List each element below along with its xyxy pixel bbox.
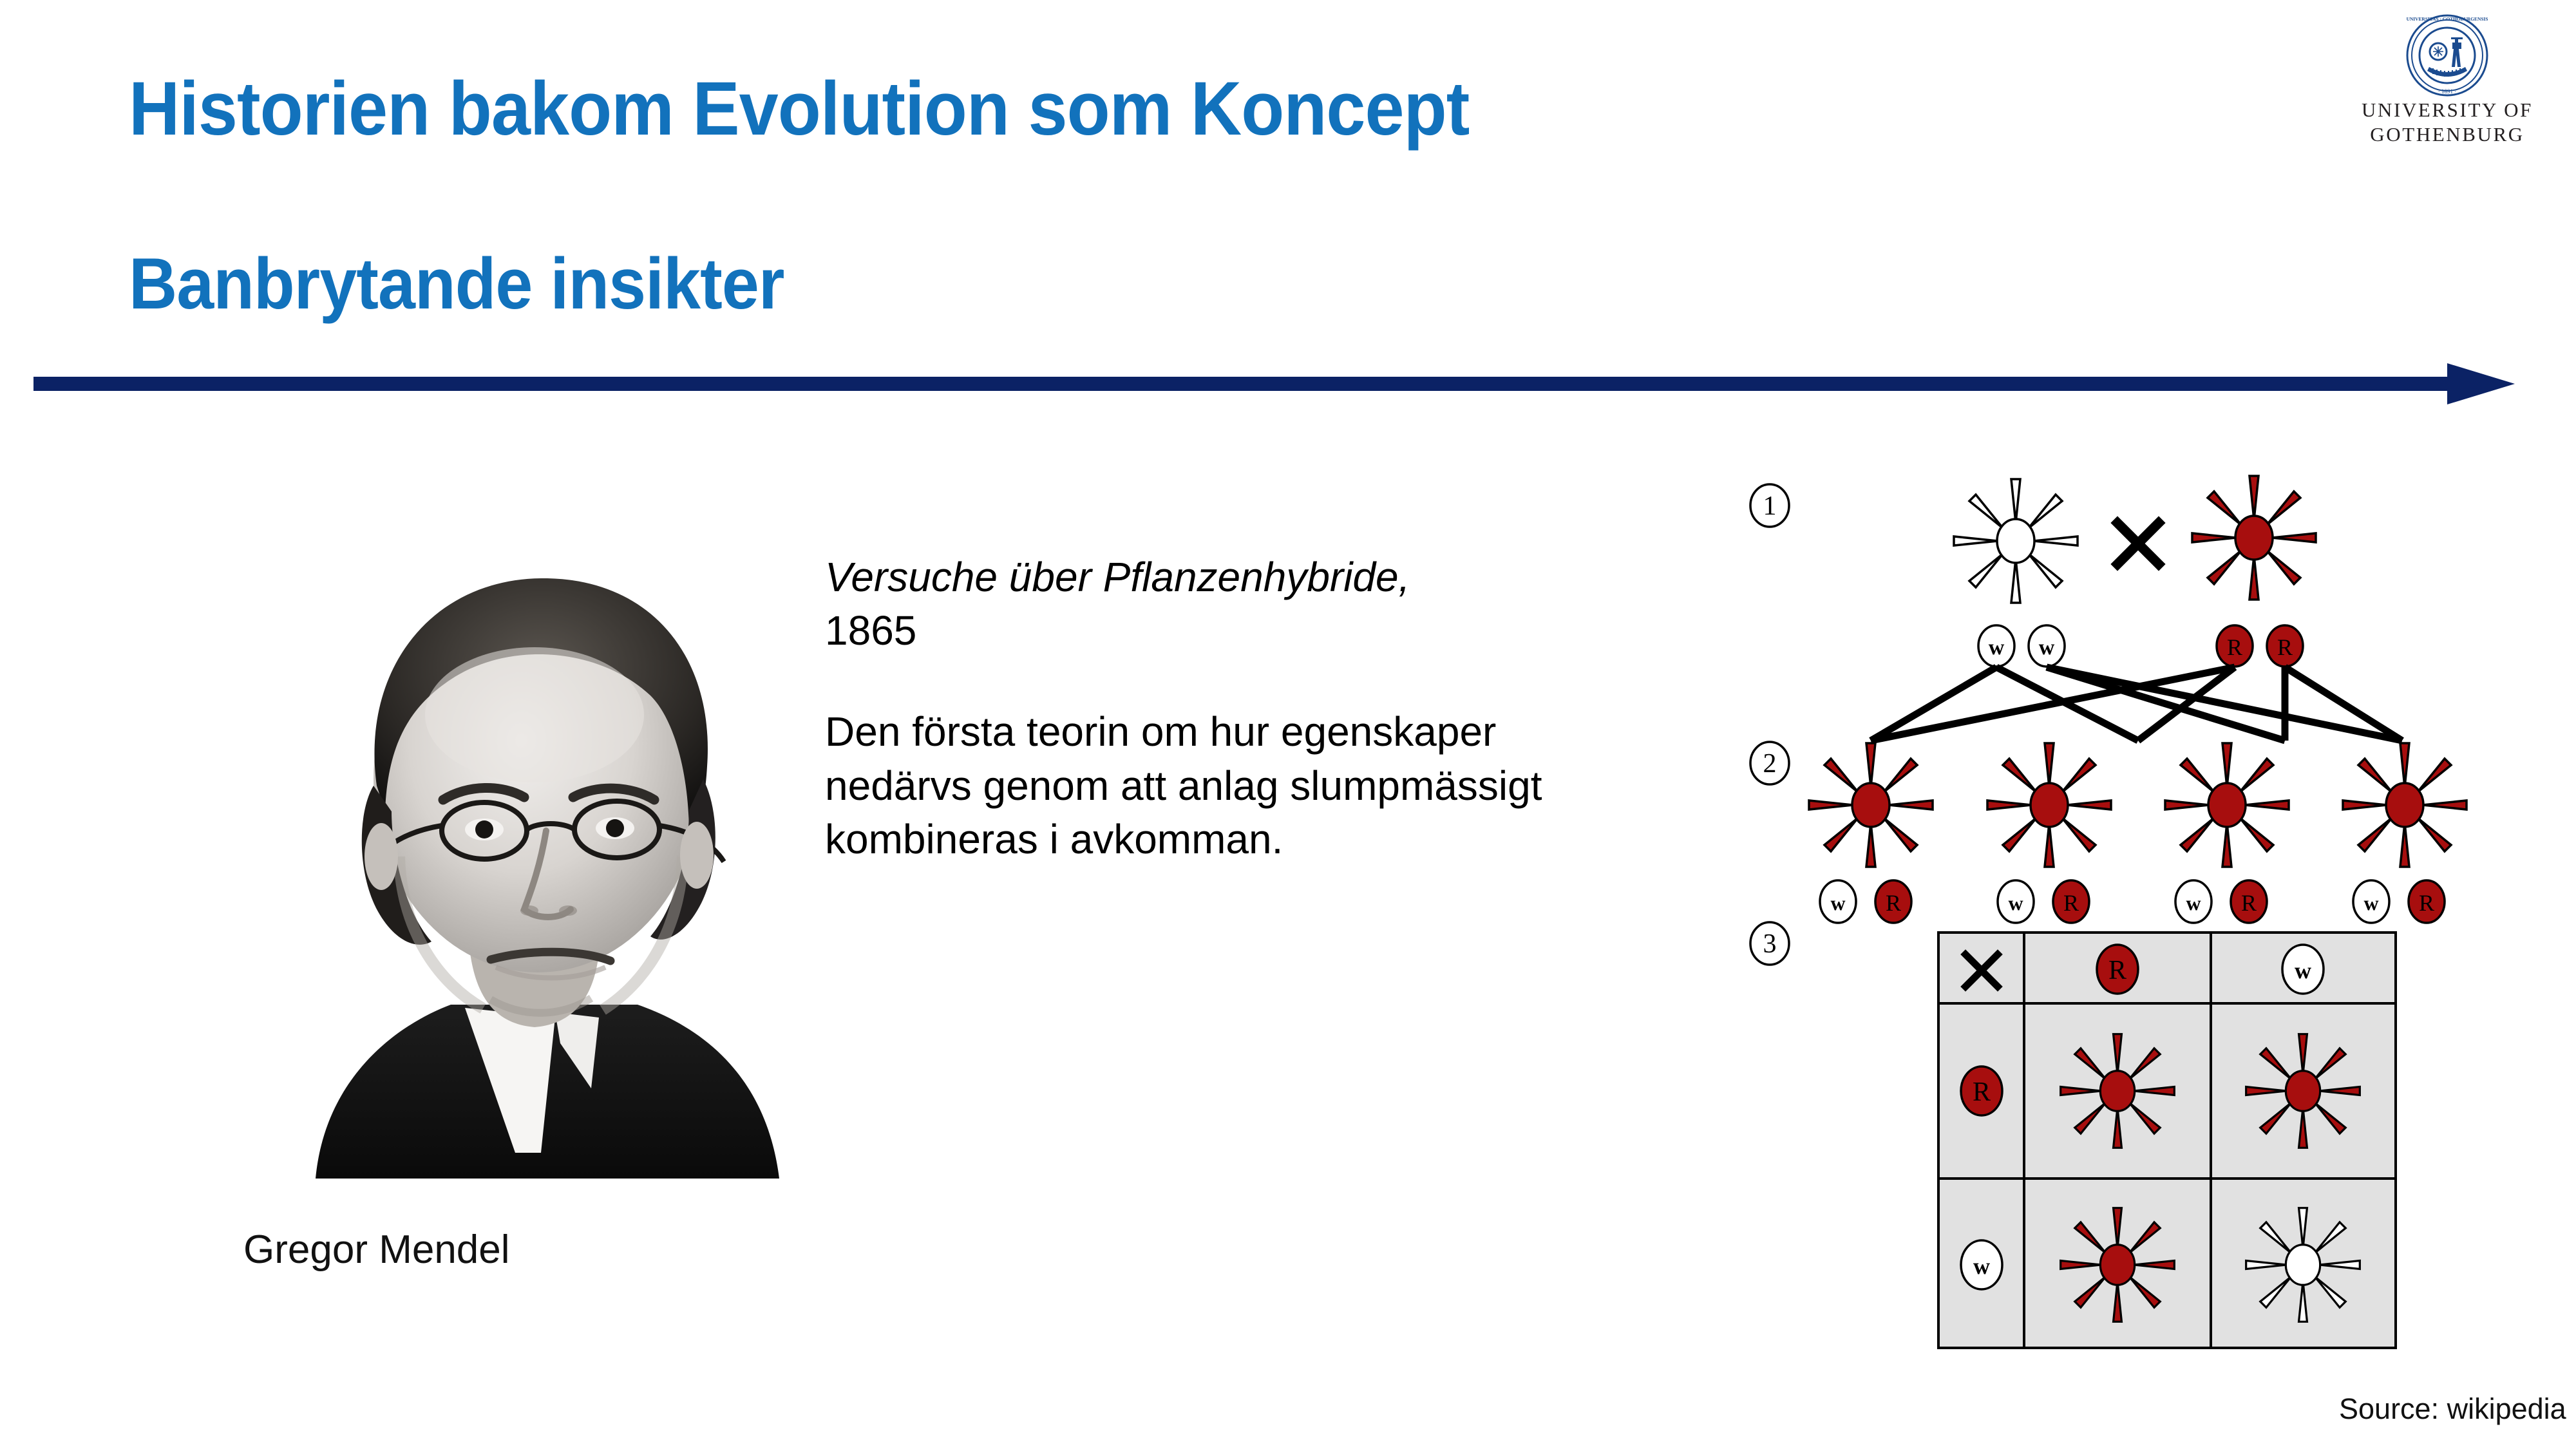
allele-parent-r-1: R — [2217, 625, 2253, 667]
svg-text:w: w — [1989, 636, 2005, 659]
allele-offspring-3-w: w — [2175, 880, 2211, 923]
svg-text:· 1891 ·: · 1891 · — [2438, 88, 2457, 95]
allele-offspring-3-r: R — [2231, 880, 2267, 923]
mendel-inheritance-diagram: 1 2 3 w w R R — [1739, 464, 2531, 1365]
svg-text:R: R — [1886, 890, 1901, 916]
divider-arrow — [0, 348, 2576, 412]
paragraph-line-3: kombineras i avkomman. — [825, 813, 1681, 866]
logo-line-1: UNIVERSITY OF — [2344, 98, 2550, 122]
allele-offspring-1-w: w — [1820, 880, 1856, 923]
paragraph-line-1: Den första teorin om hur egenskaper — [825, 705, 1681, 759]
svg-text:1: 1 — [1763, 491, 1777, 521]
page-title: Historien bakom Evolution som Koncept — [129, 71, 1469, 147]
punnett-square: R w R w — [1938, 933, 2396, 1348]
svg-text:R: R — [2241, 890, 2257, 916]
punnett-row-header-R: R — [1961, 1066, 2002, 1115]
allele-offspring-2-w: w — [1998, 880, 2034, 923]
publication-year: 1865 — [825, 604, 1681, 658]
logo-line-2: GOTHENBURG — [2344, 122, 2550, 147]
svg-text:w: w — [1973, 1253, 1990, 1279]
punnett-cell-RR — [2061, 1034, 2175, 1148]
svg-text:w: w — [2363, 891, 2378, 914]
paragraph-line-2: nedärvs genom att anlag slumpmässigt — [825, 759, 1681, 813]
offspring-flower-2 — [1987, 743, 2111, 867]
text-spacer — [825, 658, 1681, 705]
offspring-flower-4 — [2343, 743, 2467, 867]
punnett-col-header-R: R — [2097, 945, 2138, 994]
parent-flower-white — [1954, 479, 2078, 603]
punnett-cell-Rw — [2246, 1034, 2360, 1148]
punnett-cell-wR — [2061, 1208, 2175, 1322]
body-text-block: Versuche über Pflanzenhybride, 1865 Den … — [825, 551, 1681, 866]
cross-symbol-parents — [2117, 523, 2159, 564]
svg-text:w: w — [2008, 891, 2023, 914]
svg-text:R: R — [2108, 956, 2126, 985]
offspring-flower-1 — [1809, 743, 1933, 867]
allele-parent-w-2: w — [2029, 625, 2065, 667]
svg-text:w: w — [1830, 891, 1845, 914]
page-subtitle: Banbrytande insikter — [129, 248, 784, 320]
allele-parent-w-1: w — [1978, 625, 2014, 667]
university-seal-icon: · UNIVERSITAS · GOTHOBURGENSIS · · 1891 … — [2405, 13, 2490, 98]
step-badge-2: 2 — [1750, 742, 1789, 784]
allele-offspring-1-r: R — [1875, 880, 1911, 923]
punnett-col-header-w: w — [2282, 945, 2324, 994]
step-badge-3: 3 — [1750, 922, 1789, 965]
svg-text:w: w — [2295, 958, 2311, 983]
inheritance-lines — [1871, 667, 2402, 741]
publication-title: Versuche über Pflanzenhybride, — [825, 551, 1681, 604]
portrait-caption: Gregor Mendel — [243, 1227, 510, 1273]
svg-text:R: R — [1973, 1077, 1991, 1107]
university-logo: · UNIVERSITAS · GOTHOBURGENSIS · · 1891 … — [2344, 13, 2550, 147]
portrait-image — [238, 509, 837, 1179]
punnett-cell-ww — [2246, 1208, 2360, 1322]
offspring-flower-3 — [2165, 743, 2289, 867]
step-badge-1: 1 — [1750, 484, 1789, 527]
allele-offspring-2-r: R — [2053, 880, 2089, 923]
svg-text:w: w — [2039, 636, 2055, 659]
allele-offspring-4-w: w — [2353, 880, 2389, 923]
svg-text:R: R — [2419, 890, 2434, 916]
allele-offspring-4-r: R — [2409, 880, 2445, 923]
parent-flower-red — [2192, 476, 2316, 600]
svg-text:R: R — [2227, 634, 2242, 660]
allele-parent-r-2: R — [2267, 625, 2303, 667]
svg-text:w: w — [2186, 891, 2201, 914]
svg-text:2: 2 — [1763, 749, 1777, 779]
svg-text:3: 3 — [1763, 929, 1777, 959]
svg-text:R: R — [2277, 634, 2293, 660]
punnett-row-header-w: w — [1961, 1240, 2002, 1289]
svg-text:· UNIVERSITAS · GOTHOBURGENSIS: · UNIVERSITAS · GOTHOBURGENSIS · — [2405, 16, 2490, 22]
source-note: Source: wikipedia — [2339, 1392, 2566, 1426]
svg-text:R: R — [2063, 890, 2079, 916]
